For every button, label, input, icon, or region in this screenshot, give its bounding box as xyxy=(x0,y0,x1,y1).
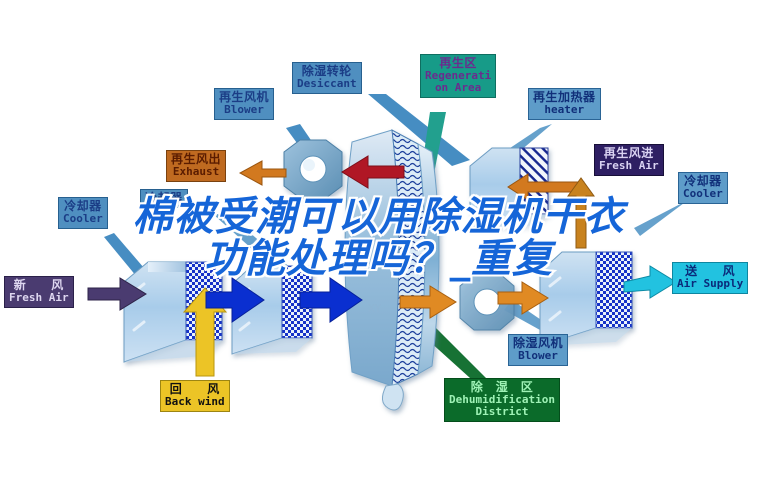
label-exhaust-en: Exhaust xyxy=(171,166,221,178)
label-regen-blower-en: Blower xyxy=(219,104,269,116)
schematic-artwork: XY xyxy=(0,0,757,488)
label-air-supply[interactable]: 送 风 Air Supply xyxy=(672,262,748,294)
label-regen-heater-cn: 再生加热器 xyxy=(533,91,596,104)
label-back-wind-cn: 回 风 xyxy=(165,383,225,396)
label-back-wind-en: Back wind xyxy=(165,396,225,408)
label-air-supply-cn: 送 风 xyxy=(677,265,743,278)
label-desiccant-cn: 除湿转轮 xyxy=(297,65,357,78)
label-cooler-left-cn: 冷却器 xyxy=(63,200,103,213)
supply-box xyxy=(540,252,632,346)
label-regen-blower-cn: 再生风机 xyxy=(219,91,269,104)
label-desiccant-en: Desiccant xyxy=(297,78,357,90)
label-exhaust-cn: 再生风出 xyxy=(171,153,221,166)
label-regen-fresh-air-en: Fresh Air xyxy=(599,160,659,172)
label-cooler-mid[interactable]: 冷却器 xyxy=(140,189,188,208)
label-exhaust[interactable]: 再生风出 Exhaust xyxy=(166,150,226,182)
label-regen-area[interactable]: 再生区 Regenerati on Area xyxy=(420,54,496,98)
regen-blower-unit xyxy=(284,140,342,198)
label-cooler-right-cn: 冷却器 xyxy=(683,175,723,188)
label-regen-heater[interactable]: 再生加热器 heater xyxy=(528,88,601,120)
label-fresh-air-en: Fresh Air xyxy=(9,292,69,304)
label-dehum-blower[interactable]: 除湿风机 Blower xyxy=(508,334,568,366)
label-fresh-air[interactable]: 新 风 Fresh Air xyxy=(4,276,74,308)
label-cooler-left[interactable]: 冷却器 Cooler xyxy=(58,197,108,229)
label-regen-fresh-air[interactable]: 再生风进 Fresh Air xyxy=(594,144,664,176)
label-dehum-blower-en: Blower xyxy=(513,350,563,362)
svg-text:XY: XY xyxy=(368,302,382,315)
label-regen-area-en-2: on Area xyxy=(425,82,491,94)
label-regen-fresh-air-cn: 再生风进 xyxy=(599,147,659,160)
label-fresh-air-cn: 新 风 xyxy=(9,279,69,292)
label-cooler-right-en: Cooler xyxy=(683,188,723,200)
label-dehum-blower-cn: 除湿风机 xyxy=(513,337,563,350)
label-cooler-right[interactable]: 冷却器 Cooler xyxy=(678,172,728,204)
label-dehum-district[interactable]: 除 湿 区 Dehumidification District xyxy=(444,378,560,422)
label-regen-blower[interactable]: 再生风机 Blower xyxy=(214,88,274,120)
label-cooler-mid-cn: 冷却器 xyxy=(145,192,183,205)
label-cooler-left-en: Cooler xyxy=(63,213,103,225)
diagram-canvas: XY xyxy=(0,0,757,488)
exhaust-arrow xyxy=(240,161,286,185)
label-dehum-district-cn: 除 湿 区 xyxy=(449,381,555,394)
label-dehum-district-en-2: District xyxy=(449,406,555,418)
label-regen-area-cn: 再生区 xyxy=(425,57,491,70)
label-back-wind[interactable]: 回 风 Back wind xyxy=(160,380,230,412)
label-regen-heater-en: heater xyxy=(533,104,596,116)
label-desiccant[interactable]: 除湿转轮 Desiccant xyxy=(292,62,362,94)
label-air-supply-en: Air Supply xyxy=(677,278,743,290)
